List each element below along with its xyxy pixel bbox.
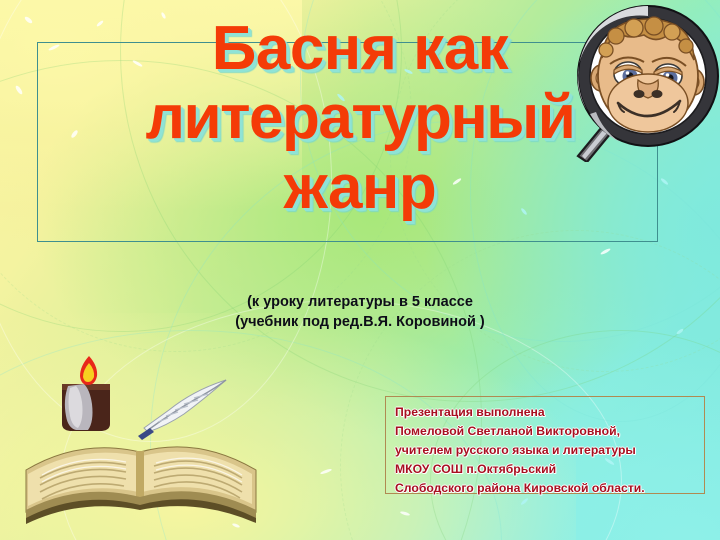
open-book-candle-quill-illustration (18, 352, 278, 532)
subtitle: (к уроку литературы в 5 классе (учебник … (0, 293, 720, 332)
presentation-slide: Басня как литературный жанр (к уроку лит… (0, 0, 720, 540)
credits-line-5: Слободского района Кировской области. (395, 479, 704, 498)
credits-line-3: учителем русского языка и литературы (395, 441, 704, 460)
credits-line-1: Презентация выполнена (395, 403, 704, 422)
subtitle-line-1: (к уроку литературы в 5 классе (0, 293, 720, 313)
author-credits-box: Презентация выполнена Помеловой Светлано… (385, 396, 705, 494)
credits-line-2: Помеловой Светланой Викторовной, (395, 422, 704, 441)
credits-line-4: МКОУ СОШ п.Октябрьский (395, 460, 704, 479)
subtitle-line-2: (учебник под ред.В.Я. Коровиной ) (0, 313, 720, 333)
magnifying-glass-monkey-icon (560, 2, 720, 162)
title-line-3: жанр (0, 153, 720, 222)
